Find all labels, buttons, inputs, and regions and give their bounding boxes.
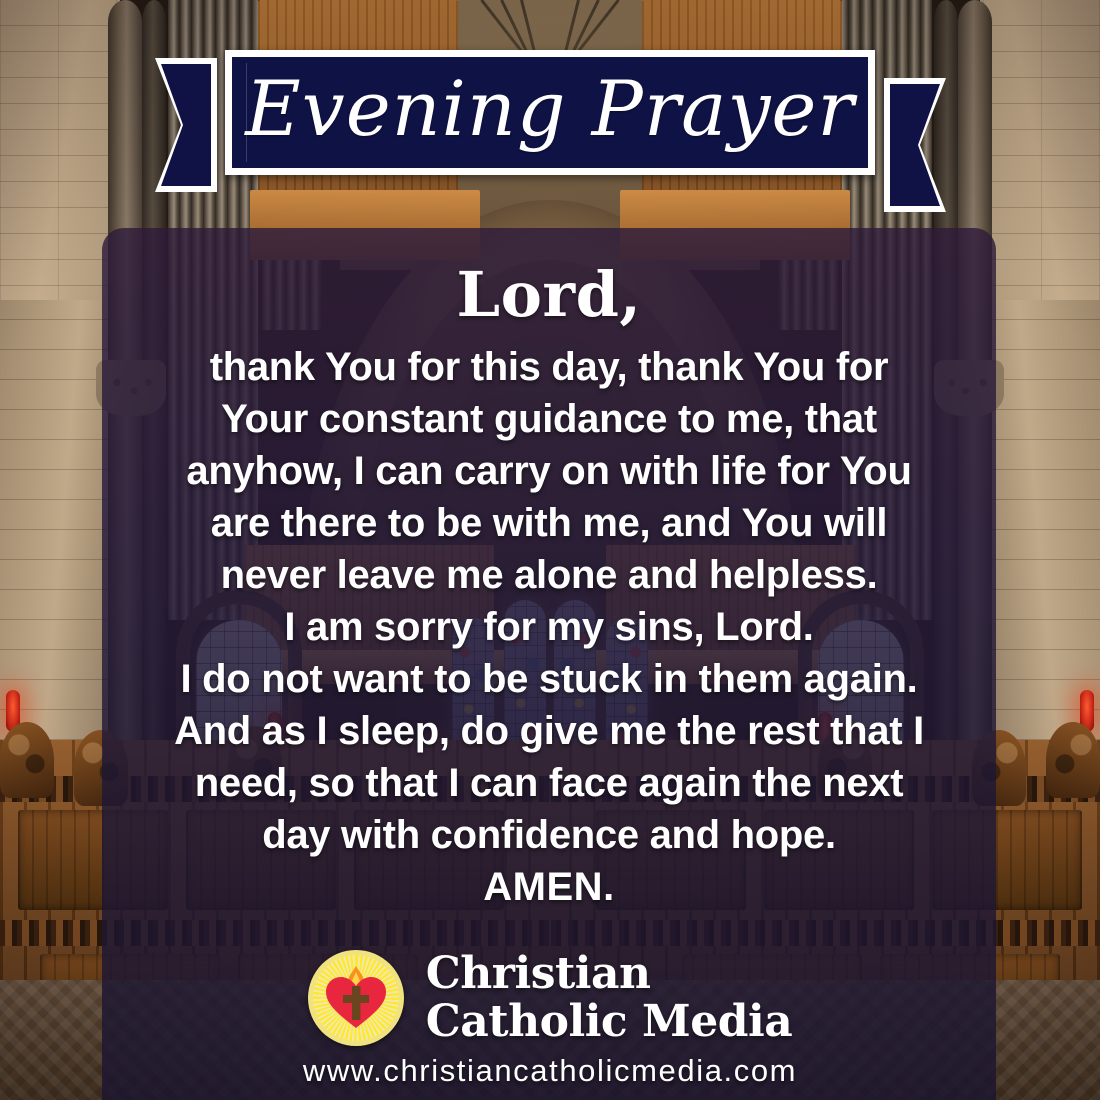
prayer-line: I do not want to be stuck in them again.	[120, 653, 978, 705]
prayer-line: Your constant guidance to me, that	[120, 393, 978, 445]
website-url[interactable]: www.christiancatholicmedia.com	[0, 1053, 1100, 1089]
prayer-amen: AMEN.	[120, 861, 978, 913]
cross-horizontal-icon	[343, 995, 369, 1003]
prayer-line: day with confidence and hope.	[120, 809, 978, 861]
carved-finial	[0, 722, 54, 798]
prayer-line: And as I sleep, do give me the rest that…	[120, 705, 978, 757]
prayer-line: never leave me alone and helpless.	[120, 549, 978, 601]
brand-logo-text: Christian Catholic Media	[426, 952, 792, 1044]
prayer-line: are there to be with me, and You will	[120, 497, 978, 549]
banner-title-text: Evening Prayer	[245, 71, 854, 147]
sacred-heart-sunburst-icon	[308, 950, 404, 1046]
banner-plate: Evening Prayer	[225, 50, 875, 175]
carved-finial	[1046, 722, 1100, 798]
ribbon-tail-right-icon	[884, 78, 946, 212]
title-banner: Evening Prayer	[0, 0, 1100, 210]
prayer-body: thank You for this day, thank You for Yo…	[102, 341, 996, 913]
brand-name-line2: Catholic Media	[426, 1000, 792, 1044]
ribbon-tail-left-icon	[155, 58, 217, 192]
banner-plate-inner: Evening Prayer	[232, 57, 868, 168]
ribbon-tail-right-fill	[890, 84, 940, 206]
ribbon-tail-left-fill	[161, 64, 211, 186]
brand-name-line1: Christian	[426, 952, 792, 996]
prayer-line: anyhow, I can carry on with life for You	[120, 445, 978, 497]
prayer-line: need, so that I can face again the next	[120, 757, 978, 809]
brand-logo: Christian Catholic Media	[0, 950, 1100, 1046]
prayer-salutation: Lord,	[102, 262, 996, 327]
prayer-poster: Evening Prayer Lord, thank You for this …	[0, 0, 1100, 1100]
prayer-line: thank You for this day, thank You for	[120, 341, 978, 393]
prayer-block: Lord, thank You for this day, thank You …	[102, 262, 996, 913]
prayer-line: I am sorry for my sins, Lord.	[120, 601, 978, 653]
